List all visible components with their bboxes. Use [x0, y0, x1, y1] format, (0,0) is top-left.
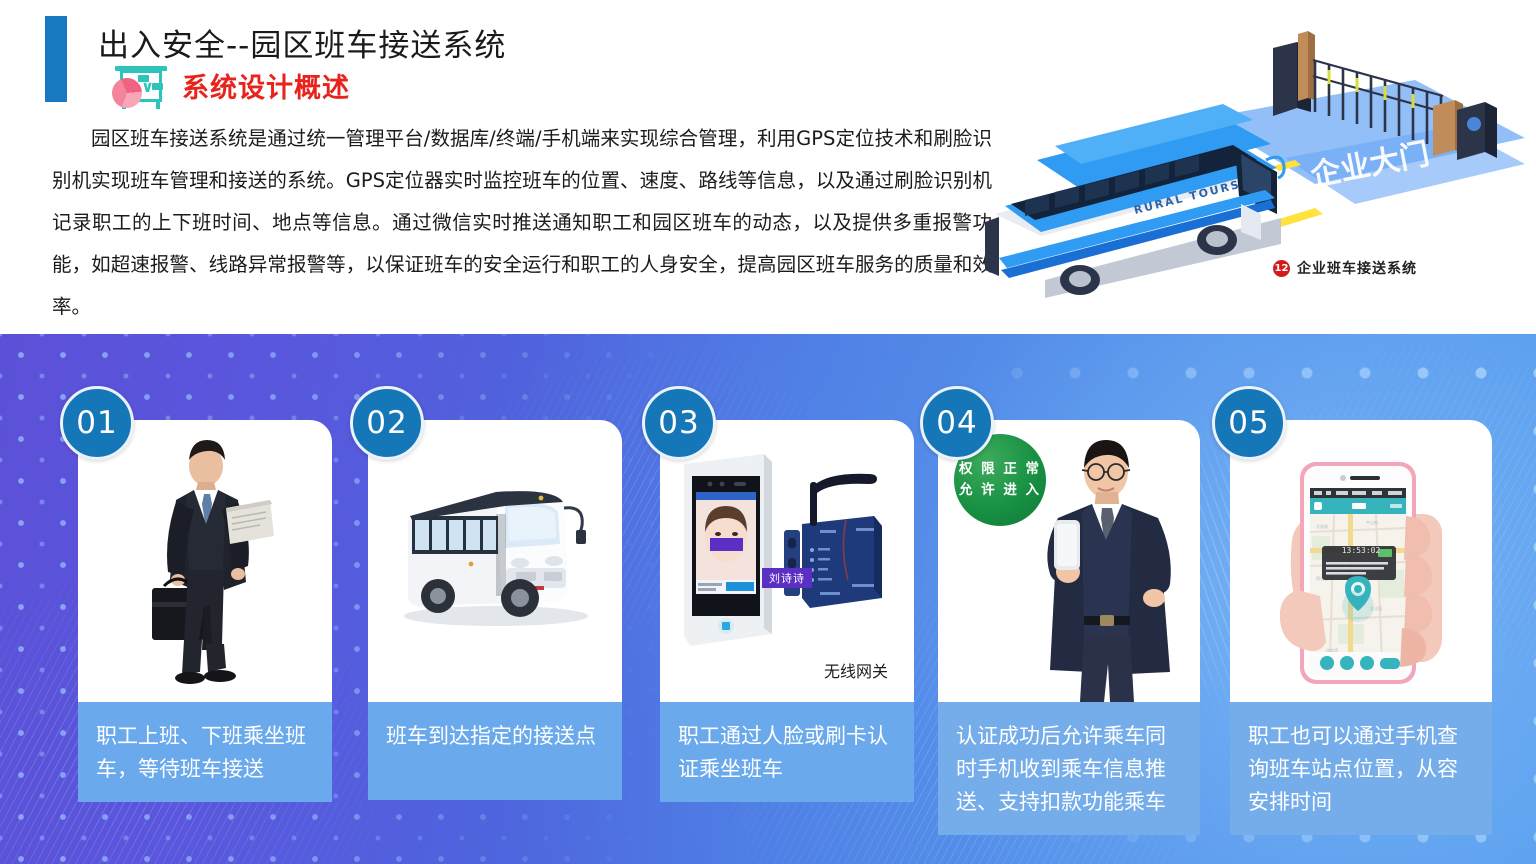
illustration-caption-text: 企业班车接送系统	[1297, 258, 1417, 278]
step-image-04: 权 限 正 常 允 许 进 入	[938, 420, 1200, 702]
svg-text:北辰路: 北辰路	[1316, 523, 1328, 529]
wireless-gateway-label: 无线网关	[824, 658, 888, 682]
hand-holding-phone-map-app-photo: 北辰路 中山街 建设道 文化园 体育馆	[1230, 420, 1492, 702]
page-title: 出入安全--园区班车接送系统	[98, 20, 506, 65]
step-number-badge-05: 05	[1212, 386, 1286, 460]
step-number-badge-03: 03	[642, 386, 716, 460]
permission-line-2: 允 许 进 入	[959, 480, 1041, 501]
step-caption-05: 职工也可以通过手机查询班车站点位置，从容安排时间	[1230, 702, 1492, 835]
overview-paragraph: 园区班车接送系统是通过统一管理平台/数据库/终端/手机端来实现综合管理，利用GP…	[52, 118, 992, 328]
step-caption-04: 认证成功后允许乘车同时手机收到乘车信息推送、支持扣款功能乘车	[938, 702, 1200, 835]
illustration-caption-badge: 12	[1273, 260, 1290, 277]
permission-line-1: 权 限 正 常	[959, 459, 1041, 480]
enterprise-shuttle-gate-illustration: 企业大门	[985, 8, 1525, 318]
step-number-badge-02: 02	[350, 386, 424, 460]
step-number-badge-04: 04	[920, 386, 994, 460]
illustration-svg: 企业大门	[985, 8, 1525, 318]
flow-step-03[interactable]: 03	[660, 420, 914, 802]
slide-root: 出入安全--园区班车接送系统 ∨ 系统设计概述 园区班车接送系统是通过统一管理平…	[0, 0, 1536, 864]
step-caption-01: 职工上班、下班乘坐班车，等待班车接送	[78, 702, 332, 802]
step-image-03: 刘诗诗 无线网关	[660, 420, 914, 702]
app-timestamp: 13:53:02	[1342, 546, 1381, 555]
step-number-badge-01: 01	[60, 386, 134, 460]
flow-section: 01	[0, 334, 1536, 864]
step-image-01	[78, 420, 332, 702]
recognized-name-tag: 刘诗诗	[762, 568, 812, 588]
businessman-with-briefcase-photo	[78, 420, 332, 702]
header-section: 出入安全--园区班车接送系统 ∨ 系统设计概述 园区班车接送系统是通过统一管理平…	[0, 0, 1536, 334]
step-caption-02: 班车到达指定的接送点	[368, 702, 622, 800]
title-accent-bar	[45, 16, 67, 102]
flow-step-05[interactable]: 05	[1230, 420, 1492, 835]
flow-step-01[interactable]: 01	[78, 420, 332, 802]
flow-step-02[interactable]: 02	[368, 420, 622, 800]
section-subtitle: 系统设计概述	[182, 66, 350, 105]
step-image-02	[368, 420, 622, 702]
flow-step-04[interactable]: 04	[938, 420, 1200, 835]
subtitle-row: ∨ 系统设计概述	[112, 62, 350, 108]
svg-text:中山街: 中山街	[1366, 519, 1378, 525]
white-shuttle-bus-photo	[368, 420, 622, 702]
flow-steps-container: 01	[0, 334, 1536, 864]
step-image-05: 北辰路 中山街 建设道 文化园 体育馆	[1230, 420, 1492, 702]
presentation-pie-chart-icon: ∨	[112, 62, 170, 108]
illustration-caption: 12 企业班车接送系统	[1273, 258, 1417, 278]
step-caption-03: 职工通过人脸或刷卡认证乘坐班车	[660, 702, 914, 802]
